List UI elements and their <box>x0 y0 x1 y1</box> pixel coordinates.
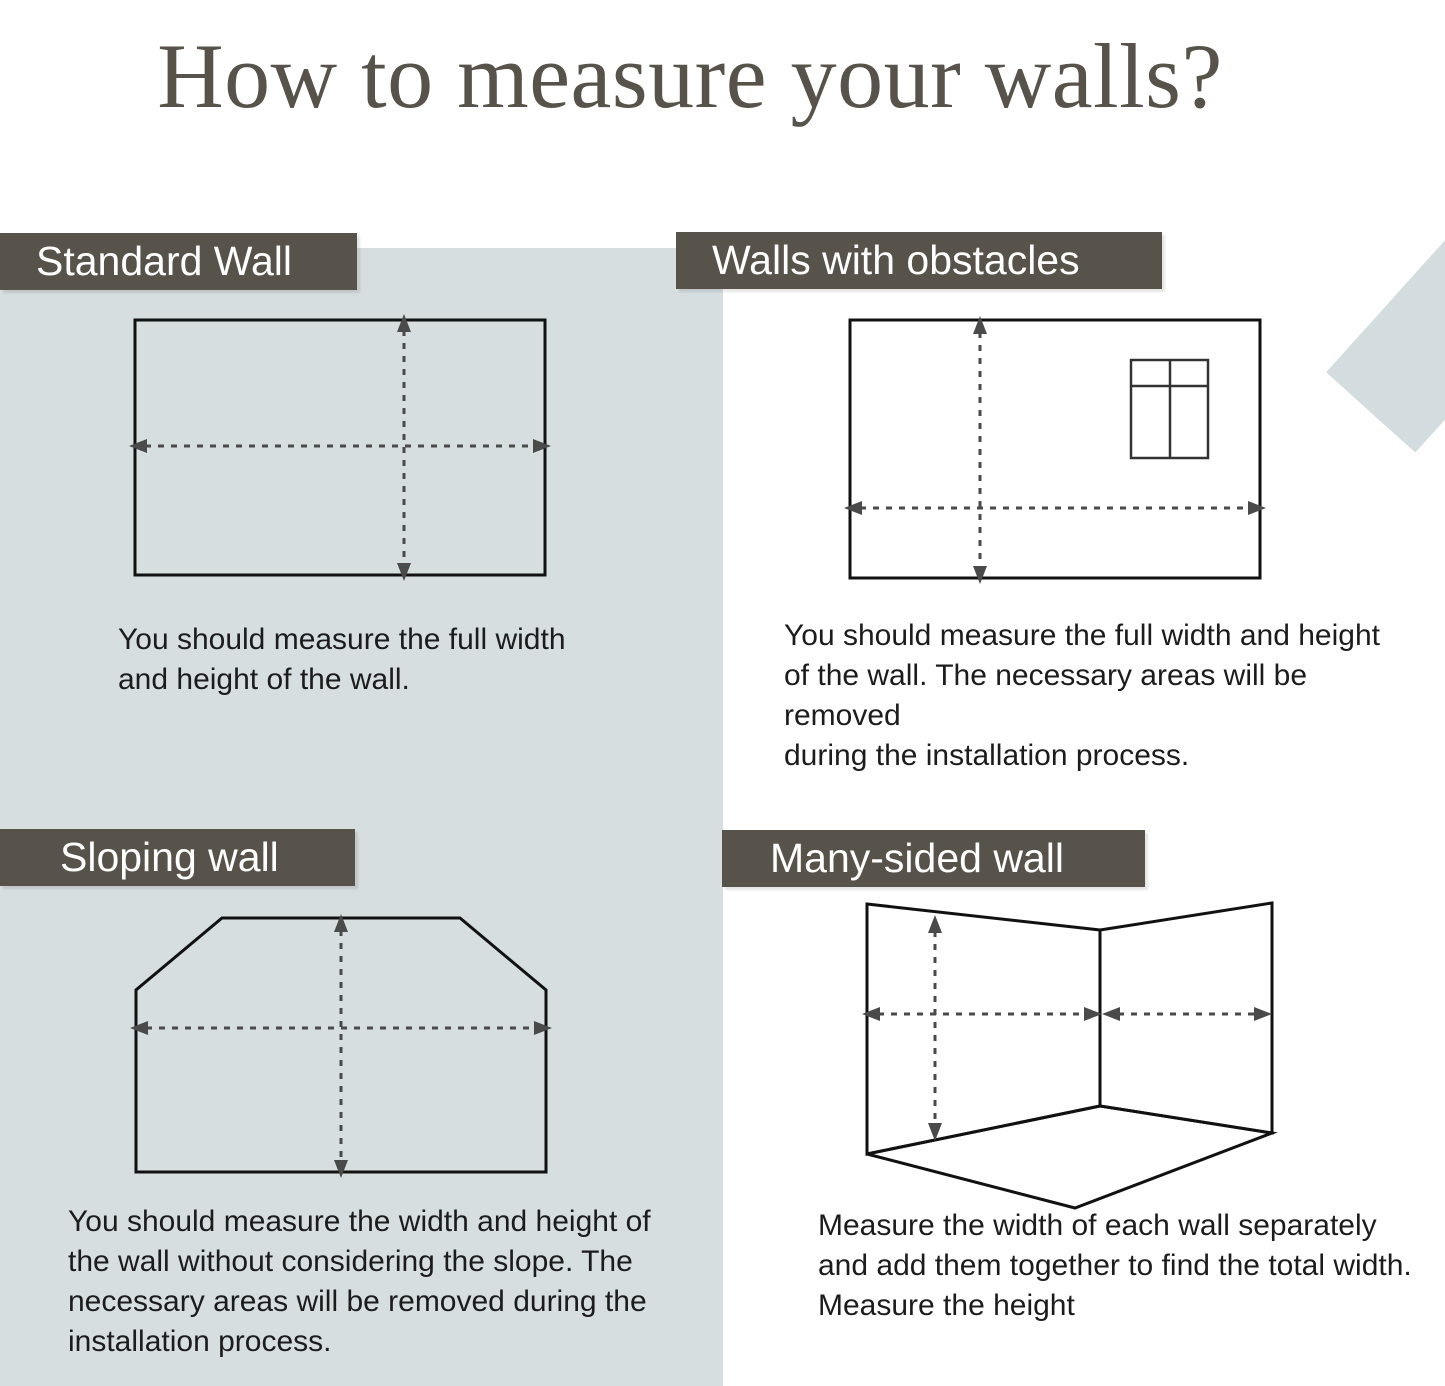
caption-standard-wall: You should measure the full width and he… <box>118 620 638 700</box>
width-arrow-left-icon <box>129 439 147 453</box>
infographic-page: How to measure your walls? Standard Wall… <box>0 0 1445 1386</box>
diagram-sloping-wall <box>100 900 600 1200</box>
width-left-arrow-left-icon <box>862 1007 880 1021</box>
section-header-sloping-wall: Sloping wall <box>0 829 355 886</box>
width-arrow-left-icon <box>130 1021 148 1035</box>
caption-sloping-wall: You should measure the width and height … <box>68 1202 668 1362</box>
width-right-arrow-right-icon <box>1254 1007 1272 1021</box>
section-header-walls-with-obstacles: Walls with obstacles <box>676 232 1162 289</box>
height-arrow-down-icon <box>334 1160 348 1178</box>
section-header-standard-wall: Standard Wall <box>0 233 357 290</box>
diagram-standard-wall <box>100 300 600 600</box>
wall-outline <box>850 320 1260 578</box>
left-wall-face <box>867 904 1100 1154</box>
width-right-arrow-left-icon <box>1102 1007 1120 1021</box>
floor-face <box>867 1106 1272 1208</box>
diagram-walls-with-obstacles <box>815 300 1315 600</box>
right-wall-face <box>1100 903 1272 1133</box>
width-arrow-left-icon <box>844 501 862 515</box>
width-arrow-right-icon <box>534 1021 552 1035</box>
section-header-many-sided-wall: Many-sided wall <box>722 830 1145 887</box>
diagram-many-sided-wall <box>830 890 1330 1220</box>
height-arrow-up-icon <box>397 314 411 332</box>
page-title: How to measure your walls? <box>0 28 1380 125</box>
width-arrow-right-icon <box>1248 501 1266 515</box>
height-arrow-down-icon <box>397 563 411 581</box>
height-arrow-up-icon <box>928 915 942 933</box>
height-arrow-down-icon <box>973 566 987 584</box>
width-arrow-right-icon <box>533 439 551 453</box>
caption-many-sided-wall: Measure the width of each wall separatel… <box>818 1206 1438 1326</box>
caption-walls-with-obstacles: You should measure the full width and he… <box>784 616 1424 776</box>
